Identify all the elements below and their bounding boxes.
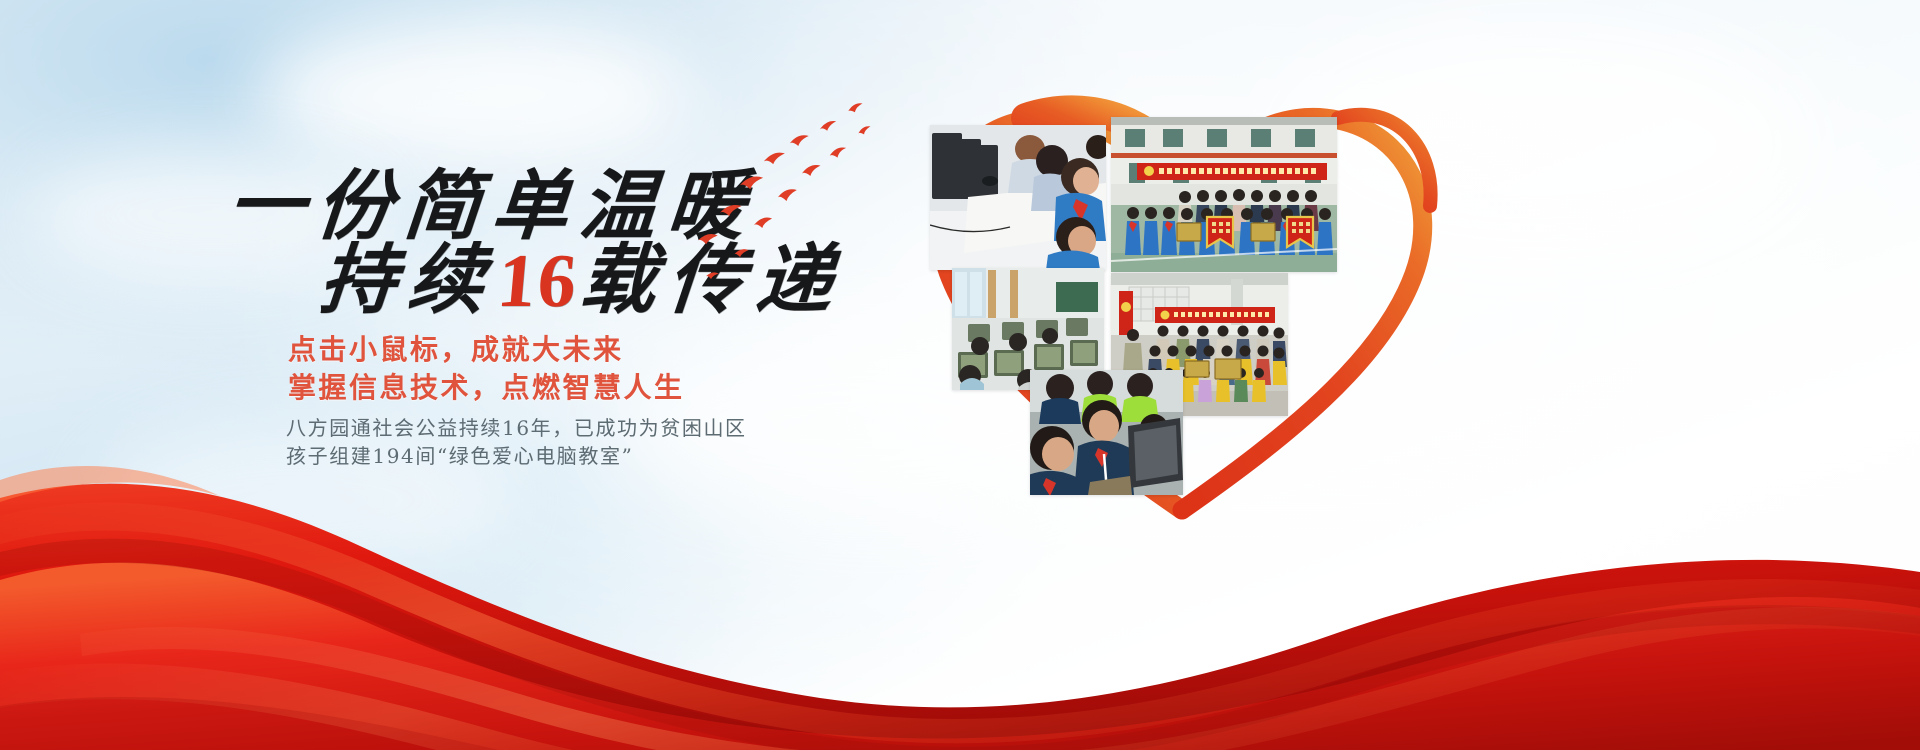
photo-collage	[830, 40, 1530, 560]
headline-year-count: 16	[492, 239, 583, 323]
subheading-line-2: 掌握信息技术，点燃智慧人生	[288, 367, 685, 408]
headline-line-1: 一份简单温暖	[225, 168, 760, 244]
banner-canvas: 一份简单温暖 持续16载传递 点击小鼠标，成就大未来 掌握信息技术，点燃智慧人生…	[0, 0, 1920, 750]
headline-line-2-prefix: 持续	[316, 235, 500, 324]
photo-boys-at-screen	[1030, 370, 1183, 495]
photo-school-group	[1111, 117, 1337, 272]
photo-computer-lab-kids	[930, 125, 1106, 270]
subheading-line-1: 点击小鼠标，成就大未来	[288, 329, 624, 370]
description-line-2: 孩子组建194间“绿色爱心电脑教室”	[286, 440, 633, 472]
